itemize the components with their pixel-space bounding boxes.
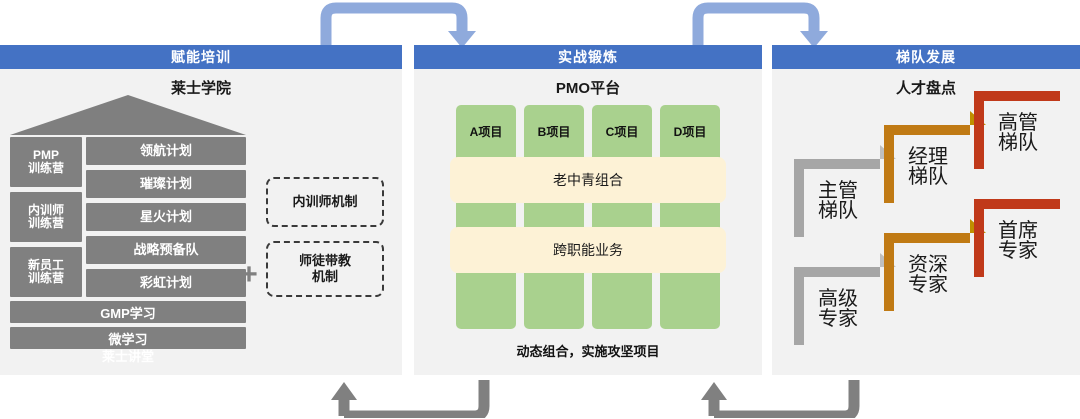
panel-body-enablement-training: 莱士学院 莱士讲堂 PMP训练营 内训师训练营 新员工训练营 领航计划 璀璨计划… <box>0 69 402 375</box>
project-box[interactable]: C项目 <box>592 105 652 159</box>
project-row-bottom <box>456 273 720 329</box>
arrow-right-to-mid-feedback <box>700 378 860 418</box>
arrow-mid-to-left-feedback <box>330 378 490 418</box>
panel-header-talent-pipeline: 梯队发展 <box>772 45 1080 69</box>
plus-icon: + <box>238 265 260 287</box>
step-bar-horizontal <box>974 91 1060 101</box>
project-segment <box>592 273 652 329</box>
step-label: 资深专家 <box>900 255 956 296</box>
step-bar-horizontal <box>884 125 970 135</box>
program-item[interactable]: 彩虹计划 <box>86 269 246 297</box>
project-segment <box>524 203 584 229</box>
project-segment <box>660 273 720 329</box>
project-segment <box>660 203 720 229</box>
cross-band: 跨职能业务 <box>450 227 726 273</box>
project-segment <box>456 273 516 329</box>
diagram-canvas: 赋能培训 莱士学院 莱士讲堂 PMP训练营 内训师训练营 新员工训练营 领航计划… <box>0 0 1080 419</box>
step-bar-vertical <box>974 91 984 169</box>
panel-title-pmo-platform: PMO平台 <box>414 77 762 98</box>
project-segment <box>592 203 652 229</box>
step-supervisor[interactable]: 主管梯队 <box>794 159 880 237</box>
step-label: 主管梯队 <box>810 181 866 222</box>
panel-talent-pipeline: 梯队发展 人才盘点 主管梯队 经理梯队 <box>772 45 1080 375</box>
panel-header-practical-training: 实战锻炼 <box>414 45 762 69</box>
step-bar-vertical <box>794 267 804 345</box>
project-row-top: A项目 B项目 C项目 D项目 <box>456 105 720 159</box>
project-box[interactable]: B项目 <box>524 105 584 159</box>
panel-enablement-training: 赋能培训 莱士学院 莱士讲堂 PMP训练营 内训师训练营 新员工训练营 领航计划… <box>0 45 402 375</box>
step-bar-vertical <box>794 159 804 237</box>
cross-band: 老中青组合 <box>450 157 726 203</box>
panel-body-talent-pipeline: 人才盘点 主管梯队 经理梯队 高管 <box>772 69 1080 375</box>
pmo-grid: A项目 B项目 C项目 D项目 老中青组合 跨职能业务 <box>456 105 720 363</box>
base-bar-row: GMP学习 <box>10 301 246 323</box>
program-item[interactable]: 璀璨计划 <box>86 170 246 198</box>
step-bar-horizontal <box>794 159 880 169</box>
base-bar-row: 微学习 <box>10 327 246 349</box>
panel-body-practical-training: PMO平台 A项目 B项目 C项目 D项目 老中青组合 跨职能业务 <box>414 69 762 375</box>
step-bar-vertical <box>884 125 894 203</box>
program-item[interactable]: 领航计划 <box>86 137 246 165</box>
house-columns: PMP训练营 内训师训练营 新员工训练营 领航计划 璀璨计划 星火计划 战略预备… <box>10 137 246 297</box>
step-bar-horizontal <box>794 267 880 277</box>
step-manager[interactable]: 经理梯队 <box>884 125 970 203</box>
arrow-left-to-mid <box>318 2 478 50</box>
step-bar-horizontal <box>884 233 970 243</box>
house-roof-shape <box>10 95 246 135</box>
mechanism-box[interactable]: 师徒带教机制 <box>266 241 384 297</box>
step-label: 首席专家 <box>990 221 1046 262</box>
mechanism-box[interactable]: 内训师机制 <box>266 177 384 227</box>
step-principal-expert[interactable]: 资深专家 <box>884 233 970 311</box>
program-item[interactable]: 战略预备队 <box>86 236 246 264</box>
panel-practical-training: 实战锻炼 PMO平台 A项目 B项目 C项目 D项目 老中青组合 跨职能业务 <box>414 45 762 375</box>
step-label: 经理梯队 <box>900 147 956 188</box>
arrow-mid-to-right <box>690 2 830 50</box>
panel-header-enablement-training: 赋能培训 <box>0 45 402 69</box>
step-label: 高管梯队 <box>990 113 1046 154</box>
step-chief-expert[interactable]: 首席专家 <box>974 199 1060 277</box>
step-label: 高级专家 <box>810 289 866 330</box>
program-column: 领航计划 璀璨计划 星火计划 战略预备队 彩虹计划 <box>86 137 246 297</box>
base-bar-item[interactable]: GMP学习 <box>10 301 246 323</box>
step-bar-vertical <box>884 233 894 311</box>
academy-house: 莱士讲堂 PMP训练营 内训师训练营 新员工训练营 领航计划 璀璨计划 星火计划… <box>10 95 246 367</box>
project-segment <box>524 273 584 329</box>
staircase-diagram: 主管梯队 经理梯队 高管梯队 高 <box>780 97 1072 369</box>
bootcamp-column: PMP训练营 内训师训练营 新员工训练营 <box>10 137 82 297</box>
bootcamp-item[interactable]: 新员工训练营 <box>10 247 82 297</box>
step-senior-expert[interactable]: 高级专家 <box>794 267 880 345</box>
step-bar-horizontal <box>974 199 1060 209</box>
step-bar-vertical <box>974 199 984 277</box>
bootcamp-item[interactable]: PMP训练营 <box>10 137 82 187</box>
project-segment <box>456 203 516 229</box>
project-box[interactable]: D项目 <box>660 105 720 159</box>
project-row-middle <box>456 203 720 229</box>
bootcamp-item[interactable]: 内训师训练营 <box>10 192 82 242</box>
program-item[interactable]: 星火计划 <box>86 203 246 231</box>
pmo-caption: 动态组合，实施攻坚项目 <box>456 341 720 360</box>
project-box[interactable]: A项目 <box>456 105 516 159</box>
base-bar-item[interactable]: 微学习 <box>10 327 246 349</box>
step-executive[interactable]: 高管梯队 <box>974 91 1060 169</box>
